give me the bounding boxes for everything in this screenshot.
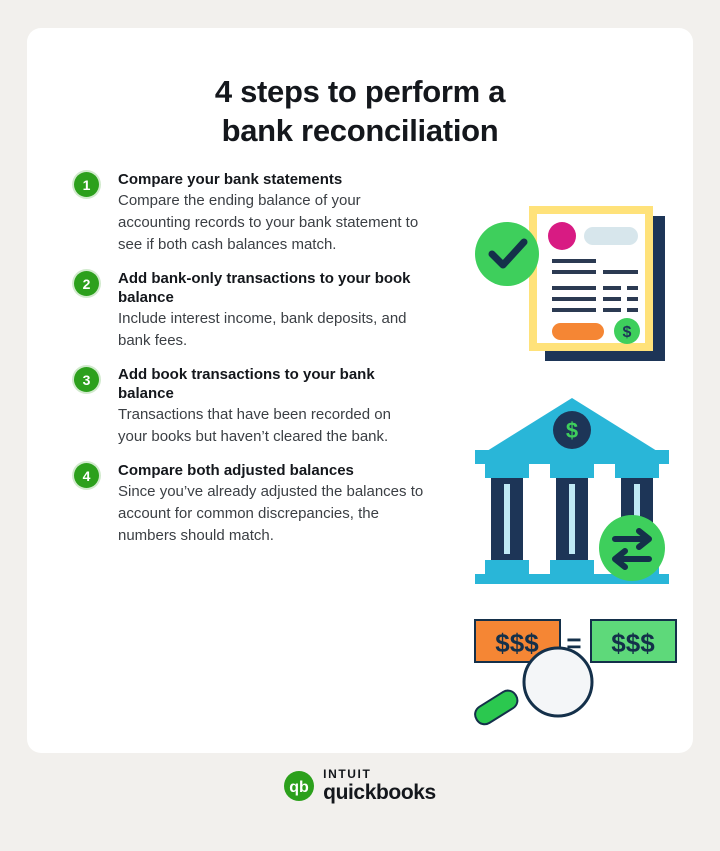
brand-quickbooks-label: quickbooks	[323, 782, 436, 803]
title-line-2: bank reconciliation	[27, 111, 693, 150]
brand-wordmark: INTUIT quickbooks	[323, 768, 436, 803]
step-description-1: Compare the ending balance of your accou…	[118, 190, 424, 256]
step-body-3: Add book transactions to your bank balan…	[118, 365, 424, 448]
bank-illustration-svg: $	[467, 388, 682, 593]
title-line-1: 4 steps to perform a	[215, 74, 505, 109]
step-heading-2: Add bank-only transactions to your book …	[118, 269, 424, 307]
magnifier-handle-icon	[472, 687, 521, 727]
step-number-badge-4: 4	[74, 463, 99, 488]
step-description-4: Since you’ve already adjusted the balanc…	[118, 481, 424, 547]
balances-match-icon: $$$ = $$$	[457, 608, 697, 733]
magnifier-lens-icon	[524, 648, 592, 716]
step-body-2: Add bank-only transactions to your book …	[118, 269, 424, 352]
bank-column-center	[550, 464, 594, 574]
step-number-badge-2: 2	[74, 271, 99, 296]
exchange-circle-icon	[599, 515, 665, 581]
step-heading-3: Add book transactions to your bank balan…	[118, 365, 424, 403]
step-heading-4: Compare both adjusted balances	[118, 461, 424, 480]
step-item-1: 1 Compare your bank statements Compare t…	[74, 170, 424, 256]
step-item-2: 2 Add bank-only transactions to your boo…	[74, 269, 424, 352]
check-circle-icon	[475, 222, 539, 286]
step-body-1: Compare your bank statements Compare the…	[118, 170, 424, 256]
blue-pill-placeholder	[584, 227, 638, 245]
right-amount-label: $$$	[611, 628, 655, 658]
quickbooks-logo-icon: qb	[284, 771, 314, 801]
step-description-3: Transactions that have been recorded on …	[118, 404, 424, 448]
infographic-page: 4 steps to perform a bank reconciliation…	[0, 0, 720, 851]
qb-monogram-icon: qb	[284, 771, 314, 801]
qb-monogram-label: qb	[289, 779, 309, 796]
brand-footer: qb INTUIT quickbooks	[0, 768, 720, 803]
step-heading-1: Compare your bank statements	[118, 170, 424, 189]
bank-architrave	[475, 450, 669, 464]
bank-building-icon: $	[467, 388, 682, 593]
steps-list: 1 Compare your bank statements Compare t…	[74, 170, 424, 560]
document-illustration-svg: $	[467, 196, 682, 376]
dollar-badge-label: $	[623, 324, 632, 341]
brand-intuit-label: INTUIT	[323, 768, 436, 780]
content-card: 4 steps to perform a bank reconciliation…	[27, 28, 693, 753]
step-item-3: 3 Add book transactions to your bank bal…	[74, 365, 424, 448]
step-item-4: 4 Compare both adjusted balances Since y…	[74, 461, 424, 547]
bank-statement-document-icon: $	[467, 196, 682, 376]
step-number-badge-1: 1	[74, 172, 99, 197]
pink-dot-icon	[548, 222, 576, 250]
bank-column-left	[485, 464, 529, 574]
orange-pill-icon	[552, 323, 604, 340]
step-description-2: Include interest income, bank deposits, …	[118, 308, 424, 352]
compare-illustration-svg: $$$ = $$$	[457, 608, 697, 733]
step-body-4: Compare both adjusted balances Since you…	[118, 461, 424, 547]
page-title: 4 steps to perform a bank reconciliation	[27, 72, 693, 150]
left-amount-label: $$$	[495, 628, 539, 658]
step-number-badge-3: 3	[74, 367, 99, 392]
bank-emblem-label: $	[566, 418, 578, 443]
